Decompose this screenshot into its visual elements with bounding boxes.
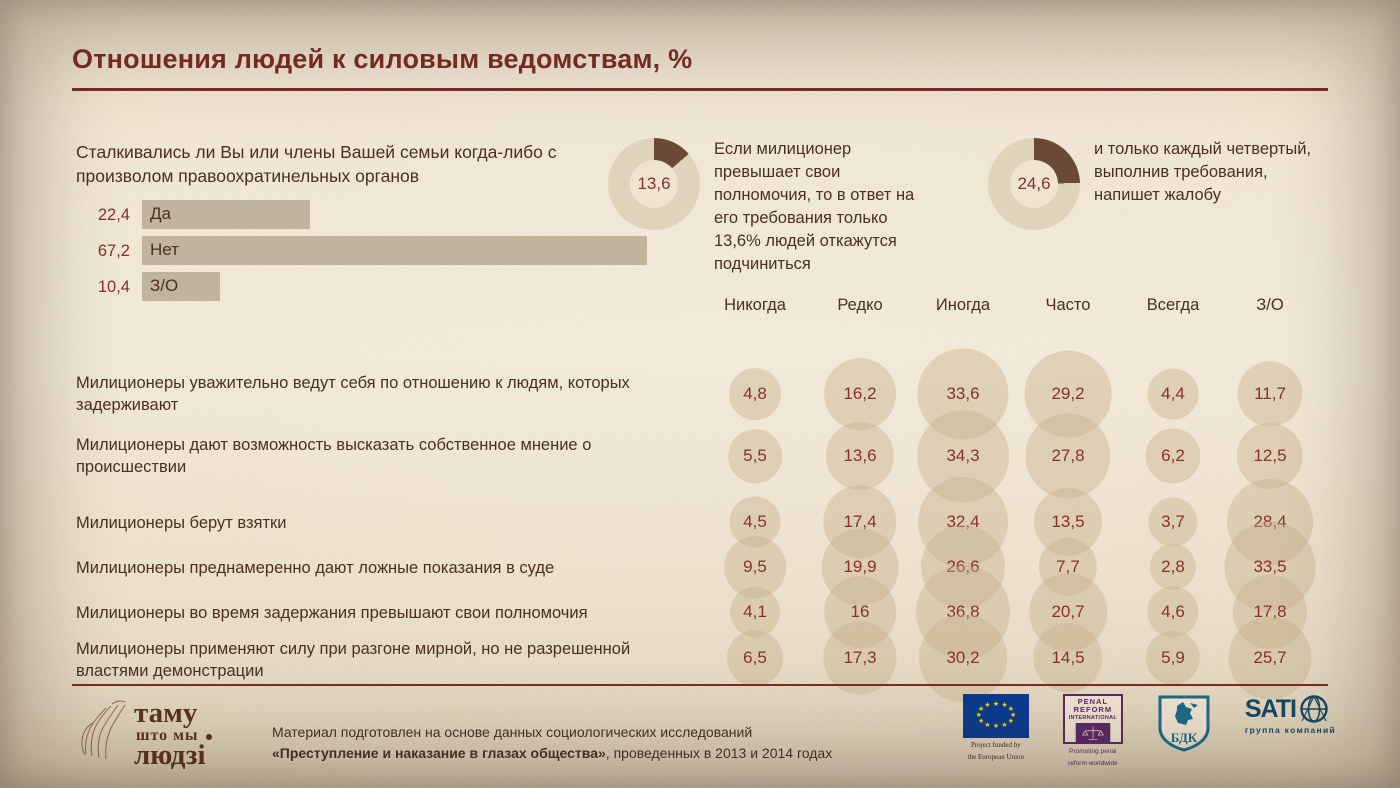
page-title: Отношения людей к силовым ведомствам, % bbox=[72, 44, 692, 75]
cell-value: 9,5 bbox=[743, 557, 767, 577]
partner-penal-reform-international: PENAL REFORM INTERNATIONAL Promoting pen… bbox=[1063, 694, 1123, 768]
bar-value: 67,2 bbox=[76, 242, 130, 261]
cell-value: 33,5 bbox=[1253, 557, 1286, 577]
bar-value: 22,4 bbox=[76, 206, 130, 225]
matrix-cell: 12,5 bbox=[1220, 426, 1320, 486]
matrix-cell: 6,2 bbox=[1123, 426, 1223, 486]
credit-tail: , проведенных в 2013 и 2014 годах bbox=[606, 745, 832, 761]
eu-caption-1: Project funded by bbox=[963, 741, 1029, 750]
bar-label: З/О bbox=[150, 276, 178, 296]
matrix-column-header: Никогда bbox=[724, 296, 786, 315]
matrix-column-headers: НикогдаРедкоИногдаЧастоВсегдаЗ/О bbox=[72, 296, 1334, 326]
bar-row: 67,2Нет bbox=[76, 236, 596, 272]
donut-value: 24,6 bbox=[1010, 160, 1058, 208]
eu-star-icon: ★ bbox=[1008, 719, 1014, 725]
prl-word-2: REFORM bbox=[1074, 706, 1113, 714]
donut-value: 13,6 bbox=[630, 160, 678, 208]
matrix-cell: 5,5 bbox=[705, 426, 805, 486]
matrix-cell: 5,9 bbox=[1123, 628, 1223, 688]
logo-dot bbox=[206, 734, 212, 740]
donut-description: и только каждый четвертый, выполнив треб… bbox=[1094, 138, 1328, 207]
cell-value: 4,8 bbox=[743, 384, 767, 404]
matrix-cell: 16,2 bbox=[810, 364, 910, 424]
matrix-row-label: Милиционеры применяют силу при разгоне м… bbox=[76, 638, 696, 682]
logo-artwork: таму што мы людзі bbox=[78, 692, 268, 772]
partner-bdk: БДК bbox=[1157, 694, 1211, 757]
matrix-cell: 4,4 bbox=[1123, 364, 1223, 424]
cell-value: 4,5 bbox=[743, 512, 767, 532]
infographic-poster: Отношения людей к силовым ведомствам, % … bbox=[0, 0, 1400, 788]
cell-value: 29,2 bbox=[1051, 384, 1084, 404]
survey-question: Сталкивались ли Вы или члены Вашей семьи… bbox=[76, 140, 616, 188]
cell-value: 3,7 bbox=[1161, 512, 1185, 532]
matrix-cell: 4,8 bbox=[705, 364, 805, 424]
partner-satio: SATI группа компаний bbox=[1245, 694, 1336, 735]
matrix-rows: Милиционеры уважительно ведут себя по от… bbox=[72, 326, 1334, 696]
cell-value: 17,3 bbox=[843, 648, 876, 668]
matrix-cell: 17,3 bbox=[810, 628, 910, 688]
bar-row: 22,4Да bbox=[76, 200, 596, 236]
eu-star-icon: ★ bbox=[1001, 723, 1007, 729]
eu-star-icon: ★ bbox=[984, 723, 990, 729]
cell-value: 11,7 bbox=[1254, 384, 1286, 404]
cell-value: 14,5 bbox=[1051, 648, 1084, 668]
bar-track bbox=[142, 236, 647, 265]
partner-european-union: ★★★★★★★★★★★★ Project funded by the Europ… bbox=[963, 694, 1029, 762]
footer-divider bbox=[72, 684, 1328, 686]
cell-value: 34,3 bbox=[946, 446, 979, 466]
satio-word: SATI bbox=[1245, 695, 1296, 724]
prl-caption-2: reform worldwide bbox=[1063, 759, 1123, 768]
matrix-row-label: Милиционеры преднамеренно дают ложные по… bbox=[76, 557, 696, 579]
cell-value: 30,2 bbox=[946, 648, 979, 668]
matrix-cell: 14,5 bbox=[1018, 628, 1118, 688]
cell-value: 13,6 bbox=[843, 446, 876, 466]
cell-value: 33,6 bbox=[946, 384, 979, 404]
matrix-cell: 6,5 bbox=[705, 628, 805, 688]
matrix-row-label: Милиционеры во время задержания превышаю… bbox=[76, 602, 696, 624]
cell-value: 25,7 bbox=[1253, 648, 1286, 668]
cell-value: 13,5 bbox=[1051, 512, 1084, 532]
eu-flag-icon: ★★★★★★★★★★★★ bbox=[963, 694, 1029, 738]
bar-value: 10,4 bbox=[76, 278, 130, 297]
eu-caption-2: the European Union bbox=[963, 753, 1029, 762]
logo-line-1: таму bbox=[134, 697, 198, 729]
partner-logos: ★★★★★★★★★★★★ Project funded by the Europ… bbox=[963, 694, 1336, 768]
matrix-column-header: Всегда bbox=[1147, 296, 1200, 315]
bar-fill bbox=[142, 236, 647, 265]
bar-label: Нет bbox=[150, 240, 179, 260]
matrix-row-label: Милиционеры уважительно ведут себя по от… bbox=[76, 372, 696, 416]
eu-star-icon: ★ bbox=[976, 713, 982, 719]
eu-star-icon: ★ bbox=[993, 724, 999, 730]
credit-text: Материал подготовлен на основе данных со… bbox=[272, 722, 892, 764]
matrix-cell: 13,6 bbox=[810, 426, 910, 486]
title-divider bbox=[72, 88, 1328, 91]
eu-star-icon: ★ bbox=[984, 703, 990, 709]
cell-value: 6,2 bbox=[1161, 446, 1185, 466]
donut-block-1: 13,6Если милиционер превышает свои полно… bbox=[608, 138, 938, 276]
matrix-cell: 30,2 bbox=[913, 628, 1013, 688]
prl-caption-1: Promoting penal bbox=[1063, 747, 1123, 756]
bdk-shield-icon: БДК bbox=[1157, 694, 1211, 752]
matrix-column-header: Иногда bbox=[936, 296, 990, 315]
cell-value: 4,6 bbox=[1161, 602, 1185, 622]
satio-globe-icon bbox=[1297, 694, 1331, 724]
cell-value: 5,9 bbox=[1161, 648, 1185, 668]
cell-value: 6,5 bbox=[743, 648, 767, 668]
hand-sketch-icon bbox=[82, 701, 125, 759]
tamu-shto-my-ludzi-logo: таму што мы людзі bbox=[78, 692, 268, 772]
eu-star-icon: ★ bbox=[978, 707, 984, 713]
eu-star-icon: ★ bbox=[993, 702, 999, 708]
prl-scales-icon bbox=[1073, 723, 1113, 742]
attitudes-matrix: НикогдаРедкоИногдаЧастоВсегдаЗ/О Милицио… bbox=[72, 296, 1334, 696]
matrix-column-header: Редко bbox=[837, 296, 882, 315]
prl-logo-icon: PENAL REFORM INTERNATIONAL bbox=[1063, 694, 1123, 744]
eu-star-icon: ★ bbox=[978, 719, 984, 725]
bar-label: Да bbox=[150, 204, 171, 224]
logo-line-3: людзі bbox=[134, 739, 206, 771]
prl-word-3: INTERNATIONAL bbox=[1069, 714, 1117, 722]
satio-subtitle: группа компаний bbox=[1245, 725, 1336, 735]
donut-block-2: 24,6и только каждый четвертый, выполнив … bbox=[988, 138, 1328, 230]
satio-wordmark: SATI bbox=[1245, 694, 1331, 724]
donut-chart: 24,6 bbox=[988, 138, 1080, 230]
credit-quote: «Преступление и наказание в глазах общес… bbox=[272, 745, 606, 761]
cell-value: 12,5 bbox=[1253, 446, 1286, 466]
credit-line-1: Материал подготовлен на основе данных со… bbox=[272, 722, 892, 743]
cell-value: 20,7 bbox=[1051, 602, 1084, 622]
bar-chart: 22,4Да67,2Нет10,4З/О bbox=[76, 200, 596, 308]
cell-value: 2,8 bbox=[1161, 557, 1185, 577]
credit-line-2: «Преступление и наказание в глазах общес… bbox=[272, 743, 892, 764]
cell-value: 5,5 bbox=[743, 446, 767, 466]
cell-value: 16 bbox=[851, 602, 870, 622]
bdk-mark: БДК bbox=[1171, 730, 1198, 745]
matrix-column-header: З/О bbox=[1256, 296, 1283, 315]
cell-value: 27,8 bbox=[1051, 446, 1084, 466]
donut-chart: 13,6 bbox=[608, 138, 700, 230]
matrix-cell: 27,8 bbox=[1018, 426, 1118, 486]
matrix-cell: 25,7 bbox=[1220, 628, 1320, 688]
cell-value: 4,1 bbox=[743, 602, 767, 622]
cell-value: 4,4 bbox=[1161, 384, 1185, 404]
eu-star-icon: ★ bbox=[1001, 703, 1007, 709]
matrix-row-label: Милиционеры берут взятки bbox=[76, 512, 696, 534]
cell-value: 16,2 bbox=[843, 384, 876, 404]
donut-description: Если милиционер превышает свои полномочи… bbox=[714, 138, 938, 276]
matrix-cell: 11,7 bbox=[1220, 364, 1320, 424]
matrix-row-label: Милиционеры дают возможность высказать с… bbox=[76, 434, 696, 478]
cell-value: 19,9 bbox=[843, 557, 876, 577]
matrix-column-header: Часто bbox=[1046, 296, 1091, 315]
